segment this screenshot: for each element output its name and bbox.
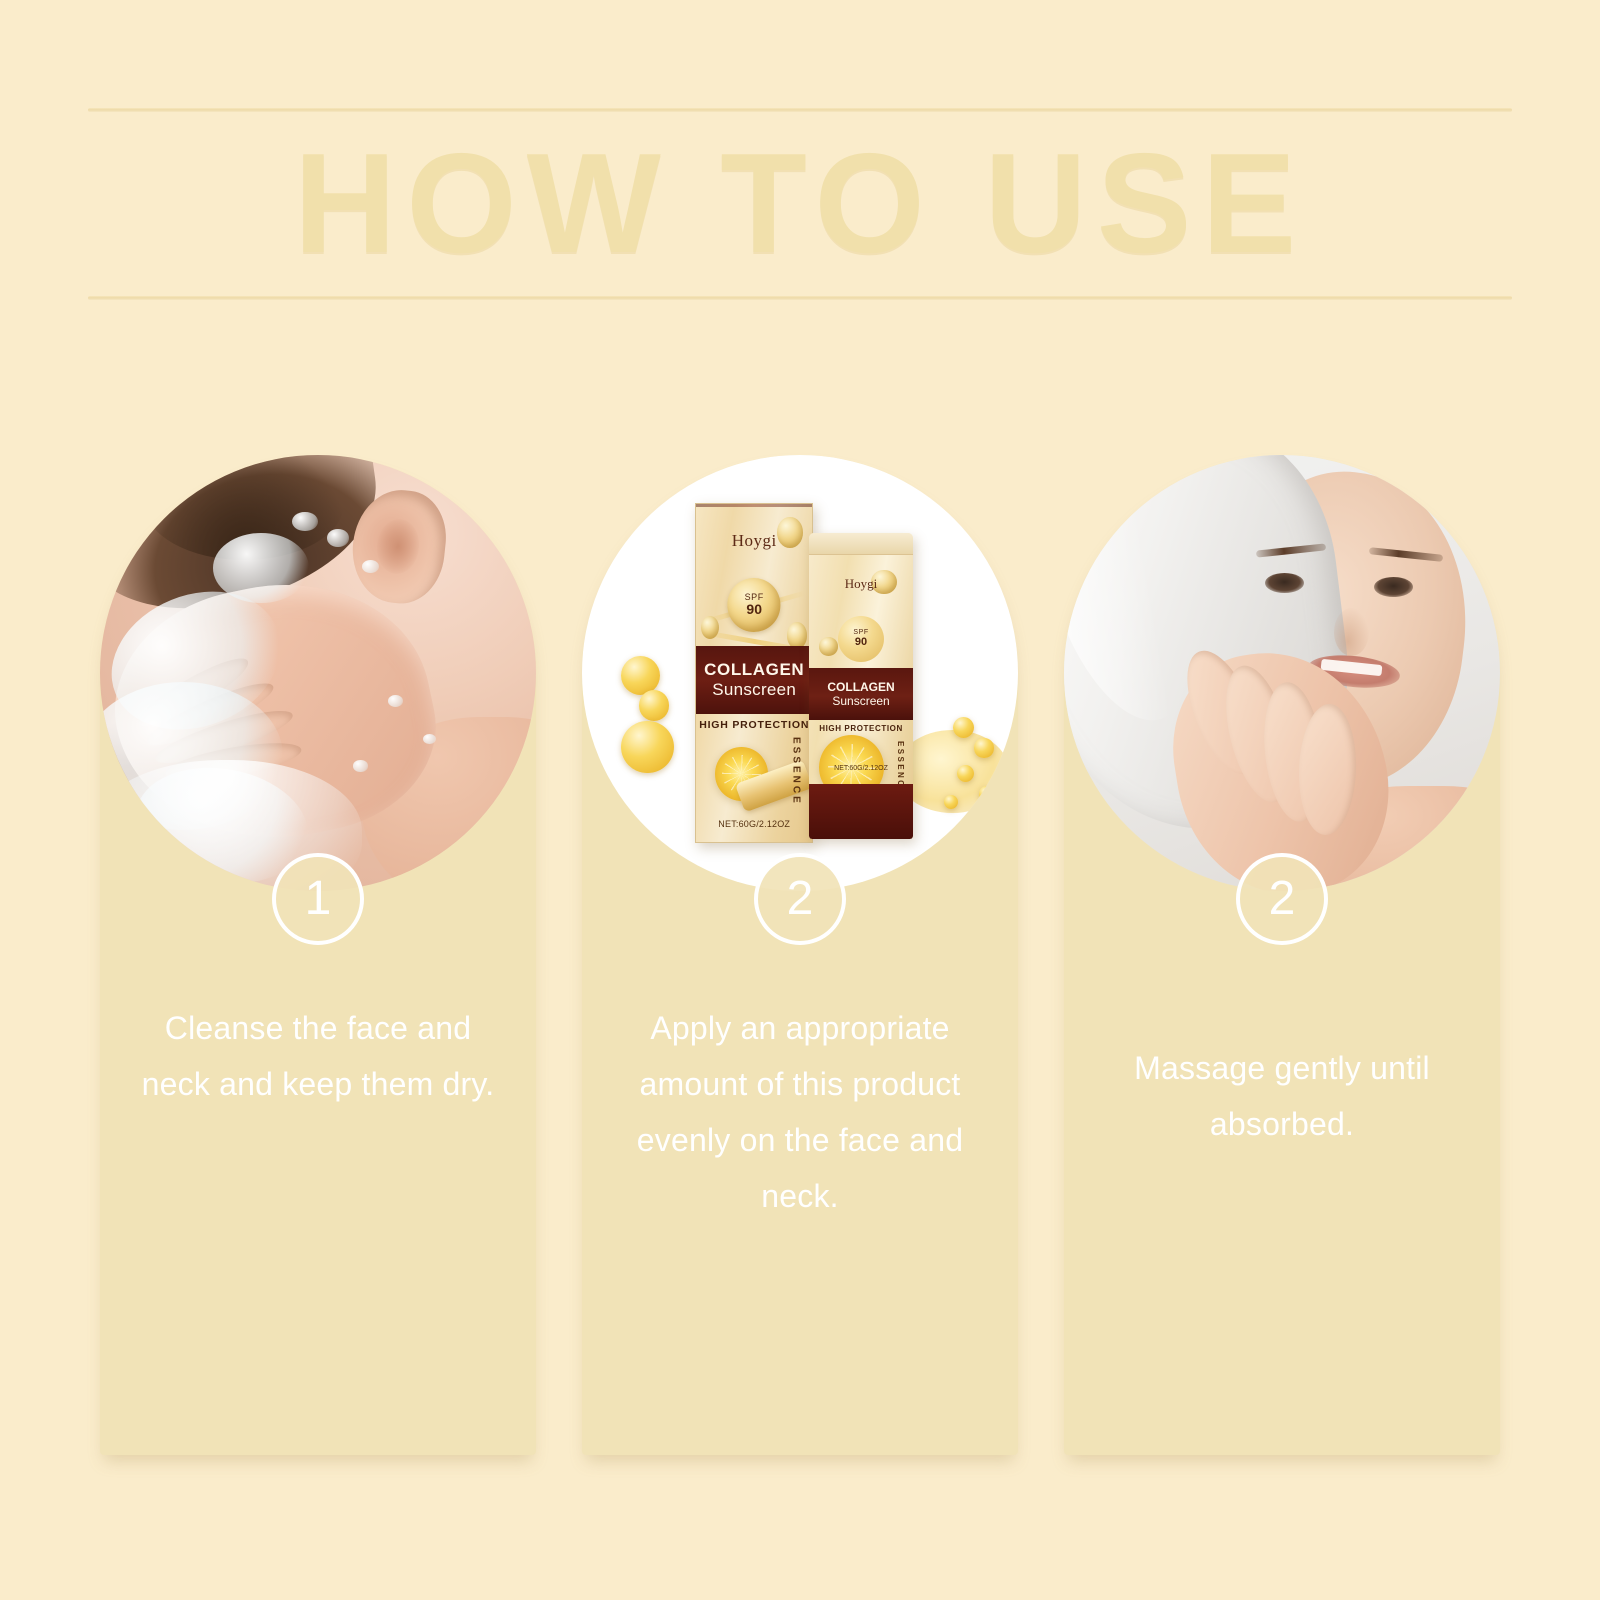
step-3-image	[1064, 455, 1500, 891]
header-rule-top	[88, 108, 1512, 112]
spf-value: 90	[855, 637, 867, 649]
oil-droplet	[639, 690, 670, 721]
tube-name-band: COLLAGEN Sunscreen	[809, 668, 914, 720]
tube-net-weight: NET:60G/2.12OZ	[809, 765, 914, 772]
product-name-band: COLLAGEN Sunscreen	[696, 646, 812, 714]
water-droplet	[353, 760, 368, 771]
tube-crimp	[809, 784, 914, 839]
product-brand: Hoygi	[696, 531, 812, 551]
box-top-edge	[696, 504, 812, 507]
step-caption-2: Apply an appropriate amount of this prod…	[614, 1000, 986, 1224]
product-stage: Hoygi SPF 90 COLLAGEN Sunscreen HIGH PRO…	[582, 455, 1018, 891]
serum-bead	[944, 795, 958, 809]
eye-shape	[1374, 577, 1413, 597]
page-header: HOW TO USE	[88, 108, 1512, 300]
step-1-image	[100, 455, 536, 891]
product-tube: Hoygi SPF 90 COLLAGEN Sunscreen HIGH PRO…	[809, 533, 914, 838]
product-essence-label: ESSENCE	[791, 737, 802, 806]
header-rule-bottom	[88, 296, 1512, 300]
step-2-image: Hoygi SPF 90 COLLAGEN Sunscreen HIGH PRO…	[582, 455, 1018, 891]
water-droplet	[327, 529, 349, 546]
molecule-ball	[819, 637, 838, 655]
product-name-line2: Sunscreen	[712, 680, 796, 700]
serum-bead	[974, 738, 993, 757]
step-number-badge-1: 1	[272, 853, 364, 945]
spf-value: 90	[746, 602, 762, 617]
product-net-weight: NET:60G/2.12OZ	[696, 819, 812, 829]
product-name-line1: COLLAGEN	[704, 660, 804, 680]
step-caption-3: Massage gently until absorbed.	[1096, 1040, 1468, 1152]
step-card-1: 1 Cleanse the face and neck and keep the…	[100, 455, 536, 1455]
product-protection-label: HIGH PROTECTION	[696, 719, 812, 731]
eye-shape	[1265, 573, 1304, 593]
nose-shape	[1334, 608, 1369, 656]
spf-badge: SPF 90	[728, 578, 781, 631]
page-title: HOW TO USE	[88, 133, 1512, 275]
oil-droplet	[621, 656, 660, 695]
tube-spf-badge: SPF 90	[838, 616, 884, 662]
step-number-badge-3: 2	[1236, 853, 1328, 945]
steps-container: 1 Cleanse the face and neck and keep the…	[100, 455, 1500, 1455]
tube-brand: Hoygi	[809, 576, 914, 592]
water-droplet	[292, 512, 318, 532]
product-name-line2: Sunscreen	[832, 694, 889, 708]
water-droplet	[362, 560, 379, 573]
step-number-badge-2: 2	[754, 853, 846, 945]
step-card-3: 2 Massage gently until absorbed.	[1064, 455, 1500, 1455]
water-splash	[213, 533, 309, 603]
product-box: Hoygi SPF 90 COLLAGEN Sunscreen HIGH PRO…	[695, 503, 813, 843]
product-name-line1: COLLAGEN	[827, 680, 894, 694]
step-card-2: Hoygi SPF 90 COLLAGEN Sunscreen HIGH PRO…	[582, 455, 1018, 1455]
oil-droplet	[621, 721, 673, 773]
tube-seal	[809, 533, 914, 554]
tube-protection-label: HIGH PROTECTION	[809, 724, 914, 733]
step-caption-1: Cleanse the face and neck and keep them …	[132, 1000, 504, 1112]
